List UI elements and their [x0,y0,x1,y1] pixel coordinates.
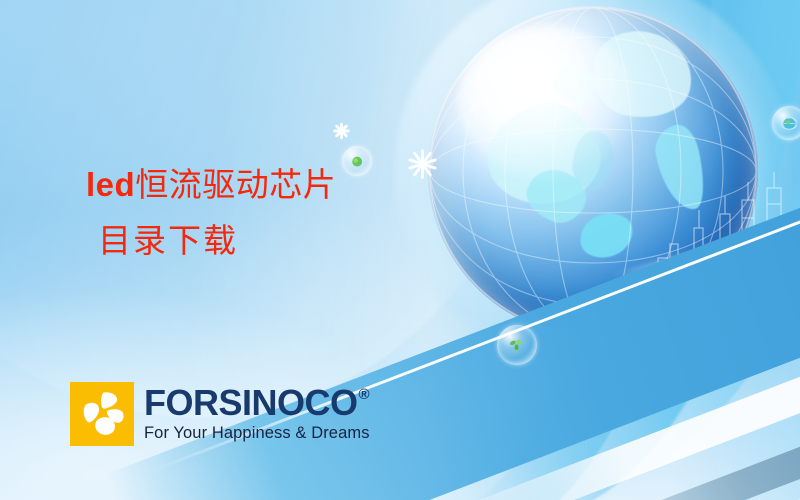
mini-globe-icon [781,116,797,131]
company-logo: FORSINOCO ® For Your Happiness & Dreams [70,382,370,446]
four-petal-flower-icon [70,382,134,446]
headline-line-1: led恒流驱动芯片 [86,164,506,207]
flower-starburst-icon [332,122,350,140]
headline-line-2: 目录下载 [98,220,506,263]
headline-latin: led [86,166,135,203]
headline-text: led恒流驱动芯片 目录下载 [86,164,506,263]
bubble-windmill-icon [497,325,537,365]
wind-turbine-icon [507,337,526,355]
headline-cjk: 恒流驱动芯片 [135,165,336,204]
promo-banner: led恒流驱动芯片 目录下载 FORSINOCO ® For Your Happ… [0,0,800,500]
bubble-globe-icon [772,106,800,140]
registered-trademark-icon: ® [359,387,370,402]
city-skyline-icon [650,170,800,320]
logo-name-row: FORSINOCO ® [144,385,370,420]
logo-wordmark: FORSINOCO ® For Your Happiness & Dreams [144,385,370,442]
logo-name-text: FORSINOCO [144,385,358,420]
petal-shape [70,382,134,446]
logo-tagline: For Your Happiness & Dreams [144,424,370,443]
